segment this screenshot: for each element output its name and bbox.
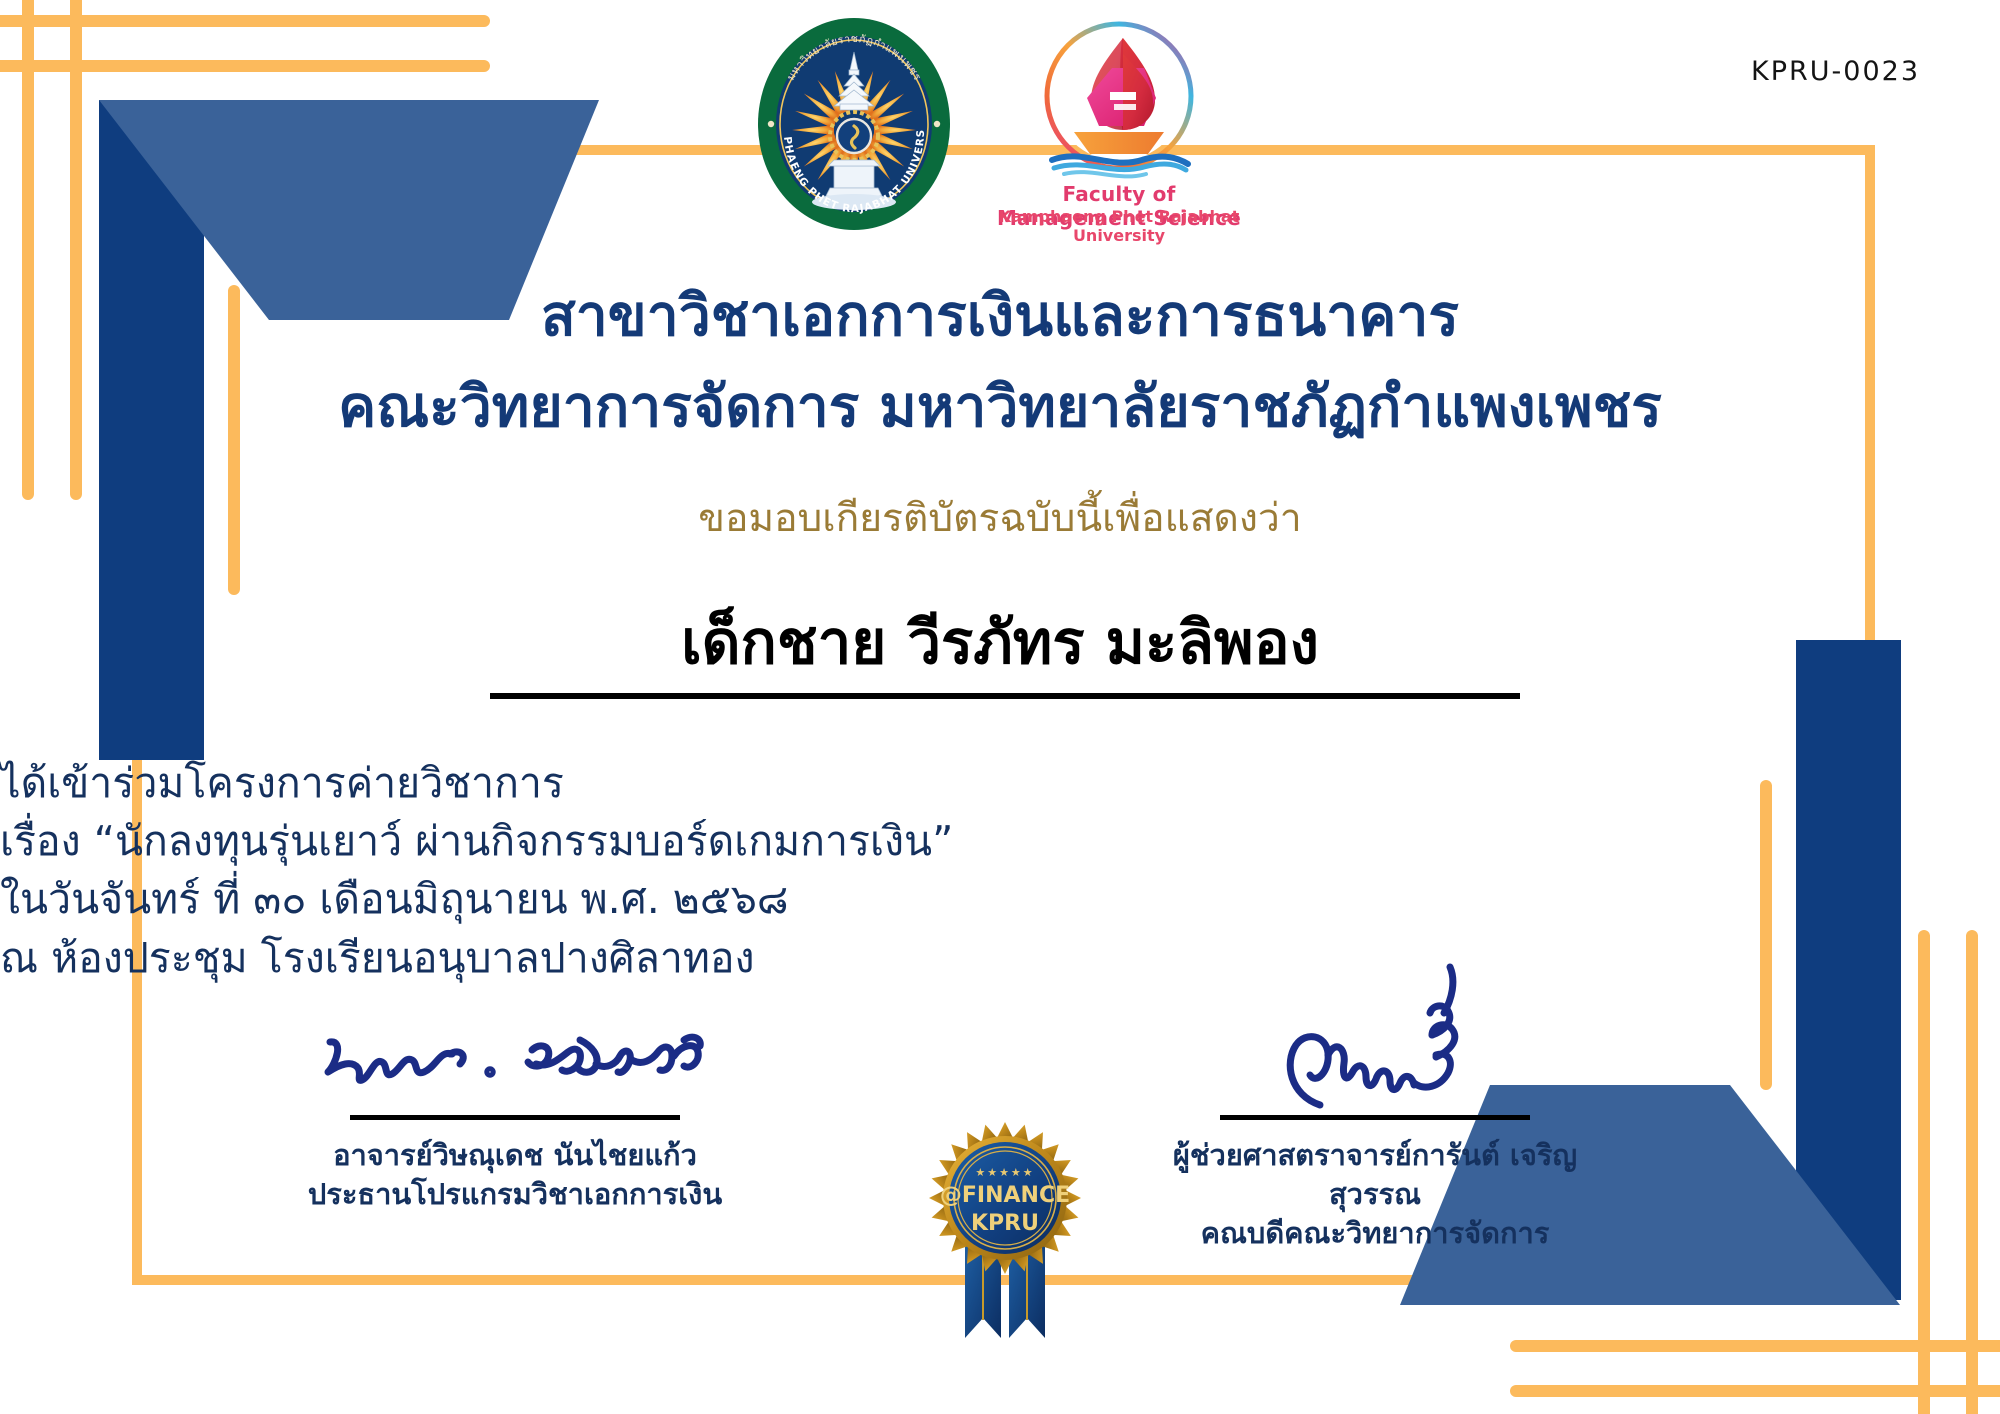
- body-line-4: ณ ห้องประชุม โรงเรียนอนุบาลปางศิลาทอง: [0, 929, 2000, 987]
- body-line-3: ในวันจันทร์ ที่ ๓๐ เดือนมิถุนายน พ.ศ. ๒๕…: [0, 870, 2000, 928]
- grid-line-br-h2: [1510, 1385, 2000, 1397]
- certificate-code: KPRU-0023: [1751, 56, 1920, 87]
- signature-right-role: คณบดีคณะวิทยาการจัดการ: [1140, 1214, 1610, 1253]
- heading-line-1: สาขาวิชาเอกการเงินและการธนาคาร: [0, 283, 2000, 350]
- recipient-name-underline: [490, 693, 1520, 699]
- heading-line-2: คณะวิทยาการจัดการ มหาวิทยาลัยราชภัฏกำแพง…: [0, 374, 2000, 441]
- signature-left-rule: [350, 1115, 680, 1120]
- signature-block-right: ผู้ช่วยศาสตราจารย์การันต์ เจริญสุวรรณ คณ…: [1140, 955, 1610, 1253]
- grid-line-br-h1: [1510, 1340, 2000, 1352]
- grid-line-br-v2: [1966, 930, 1978, 1414]
- signature-left-role: ประธานโปรแกรมวิชาเอกการเงิน: [280, 1175, 750, 1214]
- body-line-1: ได้เข้าร่วมโครงการค่ายวิชาการ: [0, 754, 2000, 812]
- badge-line1: @FINANCE: [940, 1183, 1070, 1208]
- signature-right-name: ผู้ช่วยศาสตราจารย์การันต์ เจริญสุวรรณ: [1140, 1136, 1610, 1214]
- recipient-name: เด็กชาย วีรภัทร มะลิพอง: [0, 595, 2000, 690]
- award-rosette-seal-icon: ★★★★★ @FINANCE KPRU: [925, 1120, 1085, 1350]
- faculty-logo-line2: Kamphaeng Phet Rajabhat University: [992, 207, 1247, 245]
- badge-stars: ★★★★★: [975, 1166, 1034, 1179]
- body-line-2: เรื่อง “นักลงทุนรุ่นเยาว์ ผ่านกิจกรรมบอร…: [0, 812, 2000, 870]
- grid-line-br-v1: [1918, 930, 1930, 1414]
- certificate-canvas: KPRU-0023: [0, 0, 2000, 1414]
- certificate-body: ได้เข้าร่วมโครงการค่ายวิชาการ เรื่อง “นั…: [0, 754, 2000, 987]
- faculty-management-science-logo-icon: Faculty of Management Science Kamphaeng …: [992, 14, 1247, 239]
- signature-right-icon: [1140, 955, 1610, 1115]
- signature-right-rule: [1220, 1115, 1530, 1120]
- signature-block-left: อาจารย์วิษณุเดช นันไชยแก้ว ประธานโปรแกรม…: [280, 1020, 750, 1214]
- kpru-university-seal-icon: มหาวิทยาลัยราชภัฏกำแพงเพชร KAMPHAENG PHE…: [754, 14, 954, 234]
- signature-left-icon: [280, 1020, 750, 1115]
- badge-line2: KPRU: [971, 1211, 1039, 1236]
- award-subtitle: ขอมอบเกียรติบัตรฉบับนี้เพื่อแสดงว่า: [0, 487, 2000, 549]
- logo-row: มหาวิทยาลัยราชภัฏกำแพงเพชร KAMPHAENG PHE…: [0, 14, 2000, 239]
- signature-left-name: อาจารย์วิษณุเดช นันไชยแก้ว: [280, 1136, 750, 1175]
